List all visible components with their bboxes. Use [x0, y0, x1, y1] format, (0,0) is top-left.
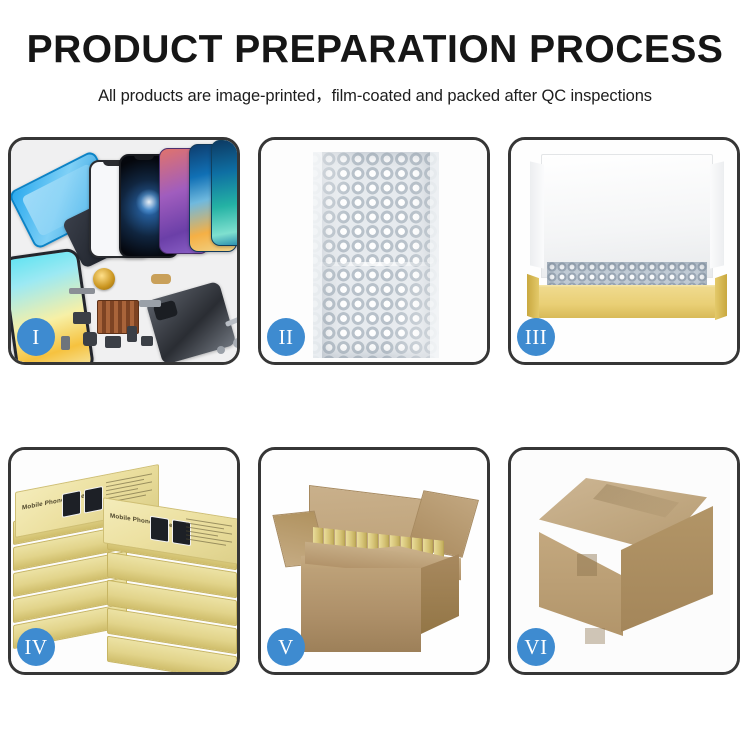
page-subtitle: All products are image-printed，film-coat…	[0, 82, 750, 106]
small-part-icon	[61, 336, 70, 350]
small-part-icon	[127, 326, 137, 342]
step-badge-1: I	[17, 318, 55, 356]
process-step-4[interactable]: Mobile Phone Spare Parts Mobile Phone Sp…	[8, 447, 240, 675]
page-header: PRODUCT PREPARATION PROCESS All products…	[0, 0, 750, 106]
carton-flap-tab	[585, 628, 605, 644]
step-badge-6: VI	[517, 628, 555, 666]
teal-phone-icon	[211, 140, 237, 246]
process-step-6[interactable]: VI	[508, 447, 740, 675]
carton-front-face	[301, 568, 421, 652]
process-step-5[interactable]: V	[258, 447, 490, 675]
box-lid-screen-graphic	[62, 485, 106, 523]
carton-flap-tab	[577, 554, 597, 576]
open-box-lid-icon	[541, 154, 713, 278]
small-part-icon	[141, 336, 153, 346]
copper-coil-part-icon	[93, 268, 115, 290]
gold-connector-part-icon	[151, 274, 171, 284]
small-part-icon	[73, 312, 91, 324]
process-step-grid: I II III	[8, 137, 742, 675]
step-badge-5: V	[267, 628, 305, 666]
screw-part-icon	[233, 338, 237, 348]
plastic-sheen-overlay	[313, 152, 439, 358]
small-part-icon	[105, 336, 121, 348]
process-step-3[interactable]: III	[508, 137, 740, 365]
wrap-fold-line	[317, 262, 435, 266]
step-badge-3: III	[517, 318, 555, 356]
page-title: PRODUCT PREPARATION PROCESS	[0, 30, 750, 71]
process-step-2[interactable]: II	[258, 137, 490, 365]
kraft-box-base-icon	[537, 288, 717, 318]
screw-part-icon	[217, 346, 225, 354]
flex-cable-part-icon	[69, 288, 95, 294]
process-step-1[interactable]: I	[8, 137, 240, 365]
step-badge-2: II	[267, 318, 305, 356]
small-part-icon	[139, 300, 161, 307]
step-badge-4: IV	[17, 628, 55, 666]
small-part-icon	[83, 332, 97, 346]
